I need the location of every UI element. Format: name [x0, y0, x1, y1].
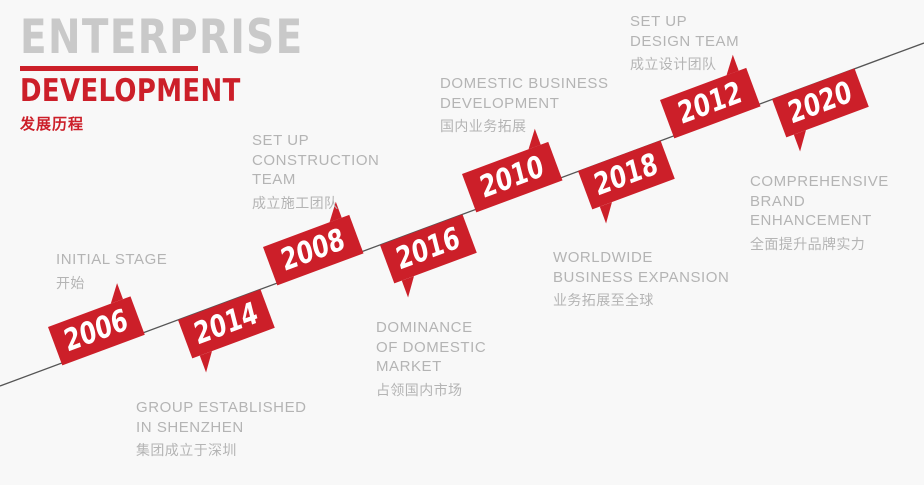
milestone-flag[interactable]: 2010 — [462, 141, 563, 211]
milestone-title-cn: 国内业务拓展 — [440, 116, 630, 136]
flag-banner: 2018 — [578, 141, 675, 210]
flag-banner: 2016 — [380, 214, 477, 283]
page-title: ENTERPRISE — [20, 14, 304, 61]
milestone-title-en: DOMINANCE OF DOMESTIC MARKET — [376, 318, 536, 377]
milestone-flag[interactable]: 2012 — [660, 68, 761, 138]
milestone-title-en: COMPREHENSIVE BRAND ENHANCEMENT — [750, 172, 924, 231]
milestone-year: 2006 — [62, 305, 131, 357]
flag-banner: 2014 — [178, 289, 275, 358]
milestone-label: DOMINANCE OF DOMESTIC MARKET占领国内市场 — [376, 318, 536, 400]
milestone-year: 2018 — [592, 149, 661, 201]
milestone-title-cn: 全面提升品牌实力 — [750, 234, 924, 254]
milestone-label: SET UP DESIGN TEAM成立设计团队 — [630, 12, 790, 74]
flag-pointer-down-icon — [200, 351, 218, 372]
milestone-year: 2012 — [676, 77, 745, 129]
milestone-title-en: SET UP CONSTRUCTION TEAM — [252, 131, 402, 190]
milestone-title-cn: 占领国内市场 — [376, 380, 536, 400]
milestone-title-cn: 成立施工团队 — [252, 193, 402, 213]
milestone-title-en: INITIAL STAGE — [56, 250, 236, 270]
milestone-title-en: SET UP DESIGN TEAM — [630, 12, 790, 51]
timeline-infographic: ENTERPRISE DEVELOPMENT 发展历程 2006INITIAL … — [0, 0, 924, 485]
flag-banner: 2006 — [48, 296, 145, 365]
flag-banner: 2008 — [263, 215, 364, 285]
flag-pointer-down-icon — [402, 276, 420, 297]
flag-banner: 2020 — [772, 69, 869, 138]
milestone-label: COMPREHENSIVE BRAND ENHANCEMENT全面提升品牌实力 — [750, 172, 924, 254]
milestone-year: 2010 — [478, 151, 547, 203]
flag-banner: 2012 — [660, 68, 761, 138]
milestone-title-en: WORLDWIDE BUSINESS EXPANSION — [553, 248, 753, 287]
flag-banner: 2010 — [462, 141, 563, 211]
milestone-year: 2016 — [394, 223, 463, 275]
milestone-flag[interactable]: 2006 — [48, 296, 145, 365]
milestone-label: WORLDWIDE BUSINESS EXPANSION业务拓展至全球 — [553, 248, 753, 310]
title-block: ENTERPRISE DEVELOPMENT 发展历程 — [20, 14, 328, 134]
milestone-title-en: DOMESTIC BUSINESS DEVELOPMENT — [440, 74, 630, 113]
milestone-year: 2008 — [279, 224, 348, 276]
milestone-title-en: GROUP ESTABLISHED IN SHENZHEN — [136, 398, 316, 437]
milestone-flag[interactable]: 2018 — [578, 141, 675, 210]
flag-pointer-down-icon — [794, 131, 812, 152]
title-divider — [20, 66, 198, 71]
milestone-label: GROUP ESTABLISHED IN SHENZHEN集团成立于深圳 — [136, 398, 316, 460]
milestone-label: INITIAL STAGE开始 — [56, 250, 236, 293]
milestone-flag[interactable]: 2016 — [380, 214, 477, 283]
page-subtitle: DEVELOPMENT — [20, 75, 307, 108]
milestone-flag[interactable]: 2014 — [178, 289, 275, 358]
milestone-year: 2014 — [192, 298, 261, 350]
milestone-title-cn: 开始 — [56, 273, 236, 293]
milestone-title-cn: 成立设计团队 — [630, 54, 790, 74]
milestone-label: SET UP CONSTRUCTION TEAM成立施工团队 — [252, 131, 402, 213]
milestone-year: 2020 — [786, 77, 855, 129]
milestone-flag[interactable]: 2020 — [772, 69, 869, 138]
milestone-title-cn: 业务拓展至全球 — [553, 290, 753, 310]
flag-pointer-down-icon — [600, 203, 618, 224]
milestone-label: DOMESTIC BUSINESS DEVELOPMENT国内业务拓展 — [440, 74, 630, 136]
milestone-title-cn: 集团成立于深圳 — [136, 440, 316, 460]
milestone-flag[interactable]: 2008 — [263, 215, 364, 285]
